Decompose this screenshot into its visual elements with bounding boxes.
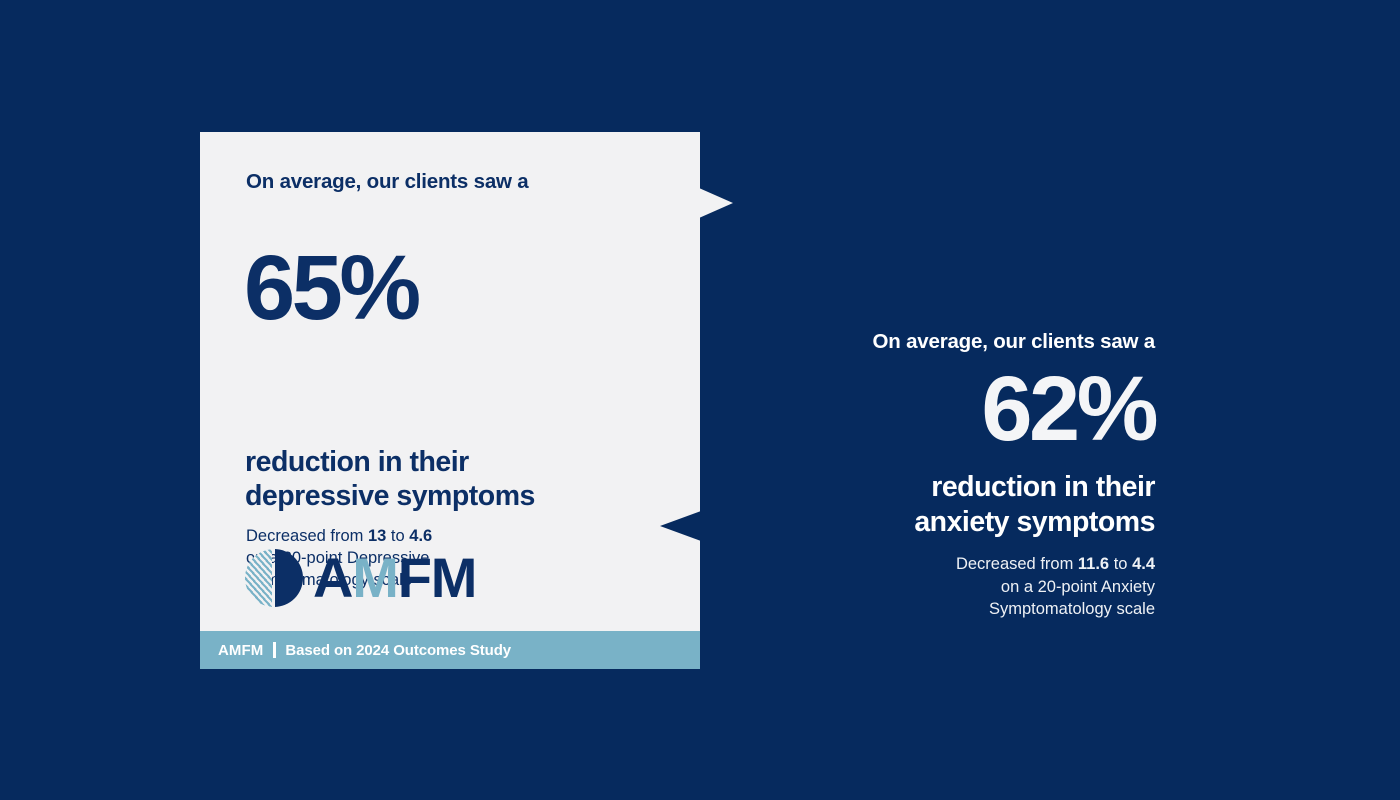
right-detail-from-value: 11.6 bbox=[1078, 555, 1109, 573]
right-detail-scale-line2: Symptomatology scale bbox=[989, 600, 1155, 618]
logo-solid-half-icon bbox=[275, 549, 303, 607]
left-detail-middle: to bbox=[386, 527, 409, 545]
right-subheading-line2: anxiety symptoms bbox=[914, 506, 1155, 538]
footer-divider bbox=[273, 642, 276, 658]
left-detail-prefix: Decreased from bbox=[246, 527, 368, 545]
logo-letter-m2: M bbox=[431, 546, 476, 609]
logo-letter-a: A bbox=[313, 546, 352, 609]
footer-content: AMFM Based on 2024 Outcomes Study bbox=[200, 642, 511, 659]
infographic-canvas: On average, our clients saw a 65% reduct… bbox=[0, 0, 1400, 800]
right-detail-prefix: Decreased from bbox=[956, 555, 1078, 573]
right-subheading: reduction in their anxiety symptoms bbox=[755, 470, 1155, 539]
left-percentage-stat: 65% bbox=[244, 242, 418, 334]
card-footer-bar: AMFM Based on 2024 Outcomes Study bbox=[200, 631, 700, 669]
amfm-circle-mark-icon bbox=[245, 549, 303, 607]
right-detail-scale-line1: on a 20-point Anxiety bbox=[1001, 578, 1155, 596]
anxiety-stat-panel: On average, our clients saw a 62% reduct… bbox=[755, 330, 1155, 620]
logo-striped-half-icon bbox=[245, 549, 272, 607]
left-lead-line: On average, our clients saw a bbox=[246, 170, 528, 195]
footer-brand-label: AMFM bbox=[218, 642, 263, 659]
footer-source-note: Based on 2024 Outcomes Study bbox=[285, 642, 511, 659]
right-detail-to-value: 4.4 bbox=[1132, 555, 1155, 573]
left-subheading: reduction in their depressive symptoms bbox=[245, 445, 535, 514]
right-detail-middle: to bbox=[1109, 555, 1132, 573]
amfm-logo: AMFM bbox=[245, 549, 476, 607]
callout-arrow-left-icon bbox=[660, 511, 701, 541]
left-subheading-line2: depressive symptoms bbox=[245, 480, 535, 512]
right-percentage-stat: 62% bbox=[755, 363, 1155, 457]
left-subheading-line1: reduction in their bbox=[245, 446, 469, 478]
left-detail-from-value: 13 bbox=[368, 527, 386, 545]
right-detail-text: Decreased from 11.6 to 4.4 on a 20-point… bbox=[755, 553, 1155, 619]
logo-letter-f: F bbox=[398, 546, 431, 609]
left-detail-to-value: 4.6 bbox=[409, 527, 432, 545]
logo-letter-m1: M bbox=[352, 546, 397, 609]
right-subheading-line1: reduction in their bbox=[931, 471, 1155, 503]
amfm-wordmark: AMFM bbox=[313, 550, 476, 606]
right-lead-line: On average, our clients saw a bbox=[755, 330, 1155, 355]
callout-arrow-right-icon bbox=[699, 188, 733, 218]
